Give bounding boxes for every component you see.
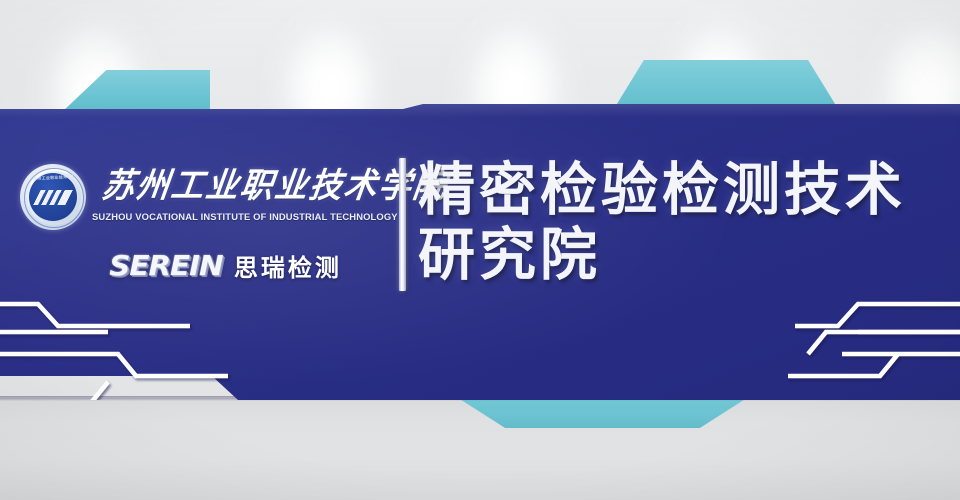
brand-row: SEREIN 思瑞检测: [112, 248, 342, 282]
school-name-english: SUZHOU VOCATIONAL INSTITUTE OF INDUSTRIA…: [92, 211, 392, 222]
serein-wordmark: SEREIN: [109, 249, 222, 282]
signage-scene: 苏州工业职业技术学院 苏州工业职业技术学院 SUZHOU VOCATIONAL …: [0, 0, 960, 500]
vertical-divider-bar: [399, 158, 406, 291]
school-emblem-icon: 苏州工业职业技术学院: [20, 164, 86, 230]
floor: [0, 398, 960, 500]
serein-chinese-name: 思瑞检测: [234, 248, 342, 283]
school-name-chinese: 苏州工业职业技术学院: [99, 164, 385, 210]
emblem-micro-text: 苏州工业职业技术学院: [33, 171, 74, 185]
page-title: 精密检验检测技术 研究院: [418, 158, 948, 288]
institution-logo-block: 苏州工业职业技术学院 苏州工业职业技术学院 SUZHOU VOCATIONAL …: [18, 158, 390, 290]
